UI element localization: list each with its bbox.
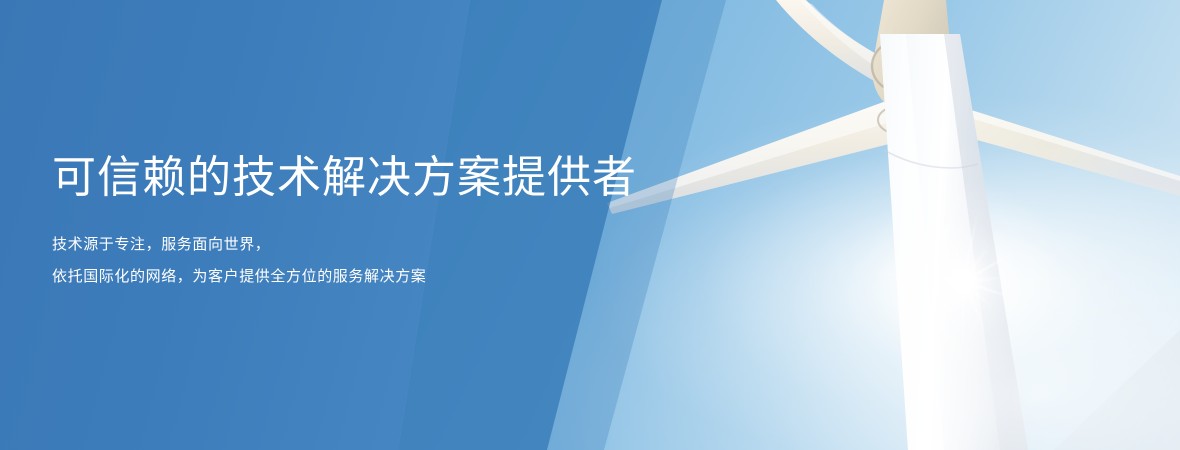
banner-copy: 可信赖的技术解决方案提供者 技术源于专注，服务面向世界， 依托国际化的网络，为客… [52,0,692,450]
subtitle-line-1: 技术源于专注，服务面向世界， [52,233,270,256]
hero-banner: 可信赖的技术解决方案提供者 技术源于专注，服务面向世界， 依托国际化的网络，为客… [0,0,1180,450]
page-title: 可信赖的技术解决方案提供者 [52,152,637,204]
subtitle-line-2: 依托国际化的网络，为客户提供全方位的服务解决方案 [52,265,426,288]
